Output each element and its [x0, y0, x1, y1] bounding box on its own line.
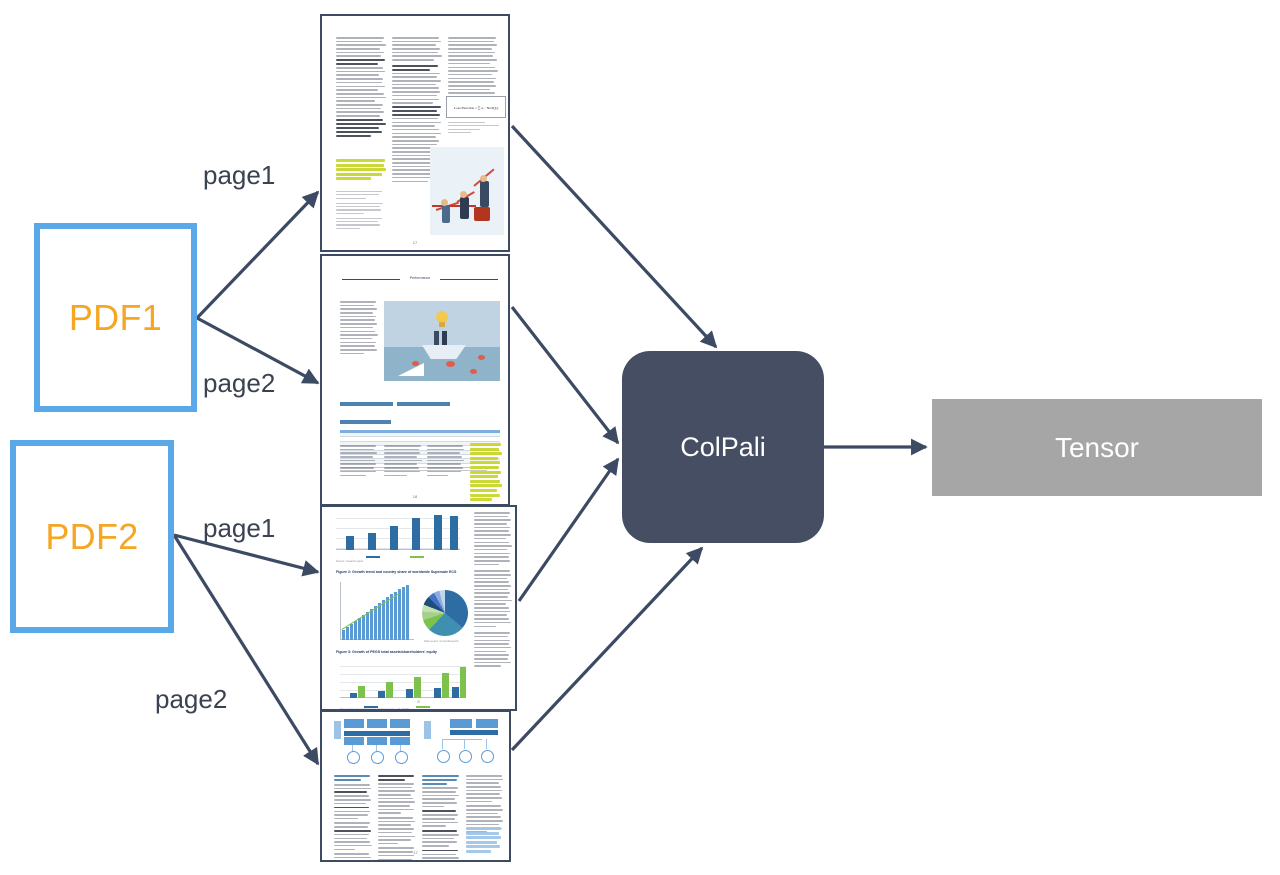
edge-page1-colpali — [512, 126, 716, 347]
page2-header: Performance — [402, 276, 438, 280]
page3-figure3-caption: Figure 3: Growth of PEGS total assets/sh… — [336, 650, 460, 654]
edge-page3-colpali — [519, 459, 618, 601]
page3-bar-chart-2 — [340, 662, 466, 702]
page1-illustration — [430, 147, 504, 235]
pdf1-node[interactable]: PDF1 — [34, 223, 197, 412]
page3-line-chart — [340, 582, 414, 644]
edge-label-pdf1-page2: page2 — [203, 368, 275, 399]
pdf1-page1-thumbnail[interactable]: Loss Function = ∑ αᵢ · NLP(ŷᵢ) — [320, 14, 510, 252]
page1-formula-box: Loss Function = ∑ αᵢ · NLP(ŷᵢ) — [446, 96, 506, 118]
pdf2-label: PDF2 — [45, 516, 138, 558]
page3-pie-chart — [422, 590, 468, 636]
pdf2-node[interactable]: PDF2 — [10, 440, 174, 633]
edge-page2-colpali — [512, 307, 618, 443]
edge-page4-colpali — [512, 548, 702, 750]
page1-formula-text: Loss Function = ∑ αᵢ · NLP(ŷᵢ) — [454, 105, 498, 109]
pdf2-page2-thumbnail[interactable]: 17 — [320, 710, 511, 862]
page4-page-number: 17 — [326, 850, 505, 855]
page3-figure2-caption: Figure 2: Growth trend and country share… — [336, 570, 460, 574]
page3-bar-chart-1 — [336, 512, 460, 554]
edge-label-pdf1-page1: page1 — [203, 160, 275, 191]
page3-page-number: 9 — [326, 699, 511, 704]
pdf2-page1-thumbnail[interactable]: Source: research report Figure 2: Growth… — [320, 505, 517, 711]
tensor-node[interactable]: Tensor — [932, 399, 1262, 496]
page4-flow-diagram-left — [334, 717, 416, 767]
pdf1-page2-thumbnail[interactable]: Performance — [320, 254, 510, 506]
colpali-node[interactable]: ColPali — [622, 351, 824, 543]
page1-highlight-block — [336, 159, 386, 182]
colpali-label: ColPali — [680, 432, 766, 463]
edge-pdf1-page1 — [197, 192, 318, 318]
edge-pdf2-page2 — [174, 535, 318, 764]
tensor-label: Tensor — [1055, 432, 1139, 464]
page2-illustration — [384, 301, 500, 381]
page2-page-number: 18 — [326, 494, 504, 499]
edge-label-pdf2-page2: page2 — [155, 684, 227, 715]
page1-page-number: 17 — [326, 240, 504, 245]
diagram-canvas: PDF1 PDF2 page1 page2 page1 page2 ColPal… — [0, 0, 1280, 875]
edge-label-pdf2-page1: page1 — [203, 513, 275, 544]
page4-flow-diagram-right — [424, 717, 504, 767]
pdf1-label: PDF1 — [69, 297, 162, 339]
